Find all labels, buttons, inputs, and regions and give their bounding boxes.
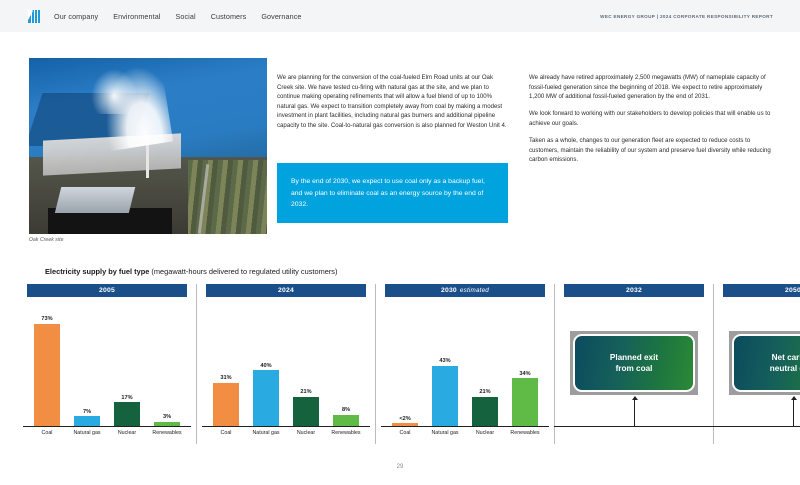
bar-value-label: 17% bbox=[121, 395, 132, 401]
report-title-label: WEC ENERGY GROUP | 2024 CORPORATE RESPON… bbox=[600, 14, 773, 19]
chart-panels-container: 200573%7%17%3%CoalNatural gasNuclearRene… bbox=[27, 284, 775, 449]
chart-panel-2050: 2050Net carbon neutral goal bbox=[723, 284, 800, 449]
paragraph-generation-fleet: Taken as a whole, changes to our generat… bbox=[529, 136, 774, 165]
bar-value-label: <2% bbox=[399, 416, 410, 422]
bar-natural-gas[interactable] bbox=[253, 370, 279, 426]
chart-title-bold: Electricity supply by fuel type bbox=[45, 267, 149, 276]
x-label-coal: Coal bbox=[27, 430, 67, 449]
nav-item-social[interactable]: Social bbox=[176, 12, 196, 21]
panel-divider bbox=[196, 284, 197, 444]
bar-renewables[interactable] bbox=[333, 415, 359, 426]
bar-nuclear[interactable] bbox=[114, 402, 140, 426]
bar-value-label: 34% bbox=[519, 371, 530, 377]
chart-panel-2005: 200573%7%17%3%CoalNatural gasNuclearRene… bbox=[27, 284, 187, 449]
paragraph-retired-capacity: We already have retired approximately 2,… bbox=[529, 73, 774, 102]
goal-box[interactable]: Planned exit from coal bbox=[573, 334, 695, 392]
panel-divider bbox=[554, 284, 555, 444]
middle-text-column: We are planning for the conversion of th… bbox=[277, 73, 508, 138]
right-text-column: We already have retired approximately 2,… bbox=[529, 73, 774, 172]
x-label-coal: Coal bbox=[206, 430, 246, 449]
bar-group: 31%40%21%8% bbox=[206, 297, 366, 426]
x-label-nuclear: Nuclear bbox=[107, 430, 147, 449]
bar-natural-gas[interactable] bbox=[432, 366, 458, 426]
main-nav: Our company Environmental Social Custome… bbox=[54, 12, 302, 21]
bar-natural-gas[interactable] bbox=[74, 416, 100, 426]
panel-year-label: 2024 bbox=[278, 287, 294, 294]
bar-nuclear[interactable] bbox=[472, 397, 498, 426]
goal-box-text: Net carbon neutral goal bbox=[770, 352, 800, 374]
plot-area-2005: 73%7%17%3% bbox=[27, 297, 187, 427]
panel-header-2032: 2032 bbox=[564, 284, 704, 297]
bar-column-natural-gas[interactable]: 43% bbox=[425, 297, 465, 426]
timeline-axis-line bbox=[713, 426, 800, 427]
bar-column-natural-gas[interactable]: 7% bbox=[67, 297, 107, 426]
goal-box[interactable]: Net carbon neutral goal bbox=[732, 334, 800, 392]
bar-column-renewables[interactable]: 34% bbox=[505, 297, 545, 426]
bar-column-nuclear[interactable]: 21% bbox=[465, 297, 505, 426]
paragraph-stakeholders: We look forward to working with our stak… bbox=[529, 109, 774, 128]
x-label-natural-gas: Natural gas bbox=[425, 430, 465, 449]
bar-column-nuclear[interactable]: 17% bbox=[107, 297, 147, 426]
bar-nuclear[interactable] bbox=[293, 397, 319, 426]
plot-area-2030: <2%43%21%34% bbox=[385, 297, 545, 427]
panel-header-2024: 2024 bbox=[206, 284, 366, 297]
panel-header-2050: 2050 bbox=[723, 284, 800, 297]
panel-divider bbox=[375, 284, 376, 444]
x-label-coal: Coal bbox=[385, 430, 425, 449]
x-axis-labels: CoalNatural gasNuclearRenewables bbox=[385, 427, 545, 449]
oak-creek-site-photo bbox=[29, 58, 267, 234]
chart-panel-2030: 2030estimated<2%43%21%34%CoalNatural gas… bbox=[385, 284, 545, 449]
bar-column-coal[interactable]: 31% bbox=[206, 297, 246, 426]
bar-column-renewables[interactable]: 3% bbox=[147, 297, 187, 426]
chart-title-subtitle: (megawatt-hours delivered to regulated u… bbox=[149, 267, 337, 276]
panel-year-label: 2032 bbox=[626, 287, 642, 294]
bar-value-label: 7% bbox=[83, 409, 91, 415]
callout-text: By the end of 2030, we expect to use coa… bbox=[277, 163, 508, 211]
paragraph-elm-road-conversion: We are planning for the conversion of th… bbox=[277, 73, 508, 131]
chart-panel-2024: 202431%40%21%8%CoalNatural gasNuclearRen… bbox=[206, 284, 366, 449]
panel-year-label: 2050 bbox=[785, 287, 800, 294]
panel-header-note: estimated bbox=[460, 287, 489, 294]
x-label-renewables: Renewables bbox=[505, 430, 545, 449]
up-arrow-icon bbox=[793, 397, 794, 427]
bar-column-natural-gas[interactable]: 40% bbox=[246, 297, 286, 426]
bar-column-coal[interactable]: <2% bbox=[385, 297, 425, 426]
bar-column-nuclear[interactable]: 21% bbox=[286, 297, 326, 426]
x-label-natural-gas: Natural gas bbox=[67, 430, 107, 449]
photo-block: Oak Creek site bbox=[29, 58, 267, 243]
chart-title: Electricity supply by fuel type (megawat… bbox=[45, 267, 337, 276]
panel-header-2030: 2030estimated bbox=[385, 284, 545, 297]
panel-header-2005: 2005 bbox=[27, 284, 187, 297]
nav-item-customers[interactable]: Customers bbox=[211, 12, 247, 21]
panel-divider bbox=[713, 284, 714, 444]
wec-logo-icon[interactable] bbox=[28, 10, 40, 23]
up-arrow-icon bbox=[634, 397, 635, 427]
bar-coal[interactable] bbox=[34, 324, 60, 426]
bar-value-label: 73% bbox=[41, 316, 52, 322]
bar-value-label: 43% bbox=[439, 358, 450, 364]
nav-item-governance[interactable]: Governance bbox=[261, 12, 301, 21]
bar-column-renewables[interactable]: 8% bbox=[326, 297, 366, 426]
bar-group: 73%7%17%3% bbox=[27, 297, 187, 426]
bar-renewables[interactable] bbox=[512, 378, 538, 426]
x-label-nuclear: Nuclear bbox=[286, 430, 326, 449]
goal-box-frame: Planned exit from coal bbox=[570, 331, 698, 395]
photo-caption: Oak Creek site bbox=[29, 237, 267, 243]
top-navigation-bar: Our company Environmental Social Custome… bbox=[0, 0, 800, 32]
bar-coal[interactable] bbox=[213, 383, 239, 426]
x-label-renewables: Renewables bbox=[326, 430, 366, 449]
page-number: 29 bbox=[0, 464, 800, 470]
bar-column-coal[interactable]: 73% bbox=[27, 297, 67, 426]
nav-item-our-company[interactable]: Our company bbox=[54, 12, 98, 21]
bar-value-label: 3% bbox=[163, 414, 171, 420]
timeline-axis-line bbox=[554, 426, 714, 427]
plot-area-2024: 31%40%21%8% bbox=[206, 297, 366, 427]
nav-item-environmental[interactable]: Environmental bbox=[113, 12, 160, 21]
panel-year-label: 2005 bbox=[99, 287, 115, 294]
callout-box-coal-phaseout: By the end of 2030, we expect to use coa… bbox=[277, 163, 508, 223]
x-label-natural-gas: Natural gas bbox=[246, 430, 286, 449]
bar-value-label: 40% bbox=[260, 363, 271, 369]
x-axis-labels: CoalNatural gasNuclearRenewables bbox=[27, 427, 187, 449]
x-label-nuclear: Nuclear bbox=[465, 430, 505, 449]
goal-box-text: Planned exit from coal bbox=[610, 352, 658, 374]
x-label-renewables: Renewables bbox=[147, 430, 187, 449]
chart-panel-2032: 2032Planned exit from coal bbox=[564, 284, 704, 449]
bar-value-label: 21% bbox=[479, 389, 490, 395]
bar-value-label: 31% bbox=[220, 375, 231, 381]
bar-value-label: 21% bbox=[300, 389, 311, 395]
bar-value-label: 8% bbox=[342, 407, 350, 413]
x-axis-labels: CoalNatural gasNuclearRenewables bbox=[206, 427, 366, 449]
panel-year-label: 2030 bbox=[441, 287, 457, 294]
goal-box-frame: Net carbon neutral goal bbox=[729, 331, 800, 395]
bar-group: <2%43%21%34% bbox=[385, 297, 545, 426]
